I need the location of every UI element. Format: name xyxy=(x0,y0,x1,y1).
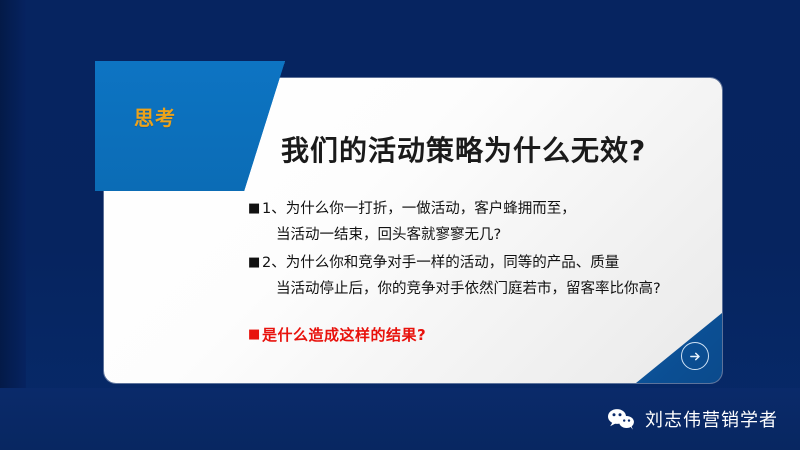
section-tab-label: 思考 xyxy=(134,102,176,131)
list-item-line-1: 2、为什么你和竞争对手一样的活动，同等的产品、质量 xyxy=(262,255,619,271)
bullet-list: ■ 1、为什么你一打折，一做活动，客户蜂拥而至， 当活动一结束，回头客就寥寥无几… xyxy=(248,196,718,350)
list-item: ■ 1、为什么你一打折，一做活动，客户蜂拥而至， 当活动一结束，回头客就寥寥无几… xyxy=(248,196,718,248)
presentation-slide: 思考 我们的活动策略为什么无效? ■ 1、为什么你一打折，一做活动，客户蜂拥而至… xyxy=(0,0,800,450)
watermark: 刘志伟营销学者 xyxy=(606,406,778,432)
slide-background-left-shade xyxy=(0,0,26,450)
square-bullet-icon: ■ xyxy=(248,250,262,276)
footer-band: 刘志伟营销学者 xyxy=(0,388,800,450)
slide-title: 我们的活动策略为什么无效? xyxy=(281,129,646,169)
list-item-line-2: 当活动停止后，你的竞争对手依然门庭若市，留客率比你高? xyxy=(262,276,718,302)
list-item-text: 1、为什么你一打折，一做活动，客户蜂拥而至， 当活动一结束，回头客就寥寥无几? xyxy=(262,196,718,248)
list-item-text: 2、为什么你和竞争对手一样的活动，同等的产品、质量 当活动停止后，你的竞争对手依… xyxy=(262,250,718,302)
square-bullet-icon: ■ xyxy=(248,196,262,222)
highlight-text: 是什么造成这样的结果? xyxy=(262,322,426,348)
square-bullet-icon-red: ■ xyxy=(248,322,262,348)
list-item-line-2: 当活动一结束，回头客就寥寥无几? xyxy=(262,222,718,248)
list-item-line-1: 1、为什么你一打折，一做活动，客户蜂拥而至， xyxy=(262,201,576,217)
list-item: ■ 2、为什么你和竞争对手一样的活动，同等的产品、质量 当活动停止后，你的竞争对… xyxy=(248,250,718,302)
highlight-item: ■ 是什么造成这样的结果? xyxy=(248,322,718,348)
watermark-text: 刘志伟营销学者 xyxy=(645,406,778,432)
wechat-icon xyxy=(606,407,636,431)
